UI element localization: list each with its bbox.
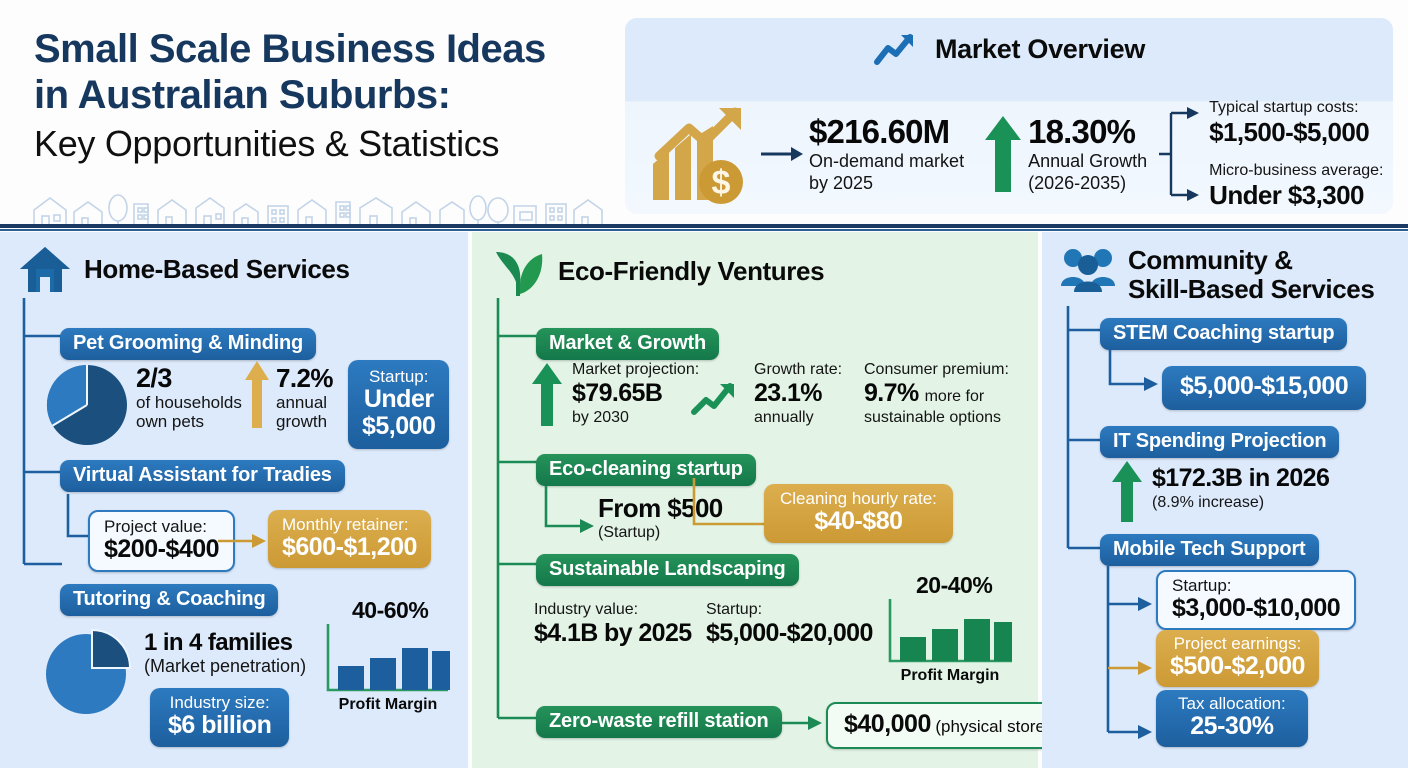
node-pet-grooming[interactable]: Pet Grooming & Minding: [60, 328, 316, 360]
mobile-startup-value: $3,000-$10,000: [1172, 595, 1340, 622]
tutoring-families-note: (Market penetration): [144, 657, 306, 676]
zero-waste-note: (physical store): [935, 717, 1050, 736]
project-value-amount: $200-$400: [104, 536, 219, 563]
header-title-block: Small Scale Business Ideas in Australian…: [34, 26, 634, 166]
tutoring-families-value: 1 in 4 families: [144, 628, 306, 657]
mobile-tax-label: Tax allocation:: [1178, 694, 1286, 713]
elbow-connector-eco-cleaning: [544, 486, 600, 542]
chart-profit-margin-landscaping: 20-40% Profit Margin: [884, 572, 1024, 685]
bar-chart-tutoring: [322, 624, 454, 696]
pie-chart-market-penetration: [40, 622, 140, 718]
column-home-based-services: Home-Based Services Pet Grooming & Mindi…: [0, 232, 468, 768]
suburb-skyline-decoration: [30, 190, 610, 226]
cleaning-rate-value: $40-$80: [780, 508, 937, 535]
node-tutoring[interactable]: Tutoring & Coaching: [60, 584, 278, 616]
bracket-split-icon: [1159, 101, 1203, 207]
bar-chart-landscaping: [884, 599, 1016, 667]
node-it-spending[interactable]: IT Spending Projection: [1100, 426, 1339, 458]
eco-growth-value: 23.1%: [754, 379, 842, 408]
node-virtual-assistant[interactable]: Virtual Assistant for Tradies: [60, 460, 345, 492]
growth-value: 18.30%: [1028, 114, 1147, 150]
startup-costs-label: Typical startup costs:: [1209, 98, 1383, 117]
infographic-root: Small Scale Business Ideas in Australian…: [0, 0, 1408, 768]
box-project-value[interactable]: Project value: $200-$400: [88, 510, 235, 572]
node-mobile-tech-support[interactable]: Mobile Tech Support: [1100, 534, 1319, 566]
landscaping-startup-amount: $5,000-$20,000: [706, 619, 873, 648]
box-monthly-retainer[interactable]: Monthly retainer: $600-$1,200: [268, 510, 431, 568]
monthly-retainer-amount: $600-$1,200: [282, 534, 417, 561]
node-stem-coaching[interactable]: STEM Coaching startup: [1100, 318, 1347, 350]
eco-premium-suffix: more for: [925, 387, 985, 406]
mobile-tax-value: 25-30%: [1178, 713, 1286, 740]
pet-pie-line1: of households: [136, 393, 242, 412]
landscaping-profit-caption: Profit Margin: [884, 667, 1016, 685]
startup-costs-value: $1,500-$5,000: [1209, 117, 1383, 147]
arrow-up-green-it-icon: [1110, 460, 1144, 524]
column-community-skill-based: Community & Skill-Based Services STEM Co…: [1042, 232, 1408, 768]
pet-pie-annotation: 2/3 of households own pets: [136, 364, 242, 431]
box-zero-waste-cost[interactable]: $40,000 (physical store): [826, 702, 1069, 749]
market-overview-branches: Typical startup costs: $1,500-$5,000 Mic…: [1209, 98, 1383, 210]
pet-growth-line1: annual: [276, 393, 333, 412]
it-spending-note: (8.9% increase): [1152, 493, 1329, 512]
market-overview-stat-ondemand: $216.60M On-demand market by 2025: [809, 114, 964, 194]
tutoring-pie-annotation: 1 in 4 families (Market penetration): [144, 628, 306, 676]
bar-chart-growth-dollar-icon: $: [649, 104, 759, 204]
market-overview-stat-growth: 18.30% Annual Growth (2026-2035): [1028, 114, 1147, 194]
mobile-earnings-label: Project earnings:: [1170, 634, 1305, 653]
node-market-growth[interactable]: Market & Growth: [536, 328, 719, 360]
column-header-community: Community & Skill-Based Services: [1042, 232, 1408, 304]
zero-waste-amount: $40,000: [844, 710, 931, 738]
landscaping-industry-amount: $4.1B by 2025: [534, 619, 692, 648]
mobile-earnings-value: $500-$2,000: [1170, 653, 1305, 680]
pet-pie-fraction: 2/3: [136, 364, 242, 393]
page-title-line2: in Australian Suburbs:: [34, 72, 634, 118]
micro-business-value: Under $3,300: [1209, 180, 1383, 210]
node-label-zero-waste[interactable]: Zero-waste refill station: [536, 706, 782, 738]
box-mobile-startup[interactable]: Startup: $3,000-$10,000: [1156, 570, 1356, 630]
industry-size-value: $6 billion: [168, 712, 271, 739]
column-eco-friendly-ventures: Eco-Friendly Ventures Market & Growth Ma…: [472, 232, 1038, 768]
arrow-up-gold-icon: [244, 360, 270, 430]
leaf-icon: [490, 244, 546, 298]
tutoring-profit-caption: Profit Margin: [322, 696, 454, 714]
arrow-right-green-icon: [782, 713, 824, 733]
ondemand-label-line2: by 2025: [809, 172, 964, 194]
badge-pet-startup[interactable]: Startup: Under $5,000: [348, 360, 449, 449]
landscaping-industry-label: Industry value:: [534, 600, 692, 619]
node-zero-waste[interactable]: Zero-waste refill station: [536, 706, 782, 738]
landscaping-industry-value: Industry value: $4.1B by 2025: [534, 600, 692, 648]
pet-startup-value-l2: $5,000: [362, 413, 435, 440]
box-mobile-tax-allocation[interactable]: Tax allocation: 25-30%: [1156, 690, 1308, 747]
node-sustainable-landscaping[interactable]: Sustainable Landscaping: [536, 554, 799, 586]
monthly-retainer-label: Monthly retainer:: [282, 515, 417, 534]
growth-label-line2: (2026-2035): [1028, 172, 1147, 194]
column-title-home-based: Home-Based Services: [84, 255, 350, 284]
eco-market-projection: Market projection: $79.65B by 2030: [572, 360, 699, 427]
landscaping-startup-label: Startup:: [706, 600, 873, 619]
node-label-sustainable-landscaping[interactable]: Sustainable Landscaping: [536, 554, 799, 586]
node-label-it-spending[interactable]: IT Spending Projection: [1100, 426, 1339, 458]
stem-startup-range: $5,000-$15,000: [1180, 372, 1348, 400]
column-title-community-line1: Community &: [1128, 246, 1374, 275]
elbow-connector-stem: [1108, 350, 1168, 398]
header-divider-secondary: [0, 229, 1408, 231]
eco-premium-note: sustainable options: [864, 408, 1009, 427]
arrow-right-icon: [761, 144, 805, 164]
column-header-home-based: Home-Based Services: [0, 232, 468, 294]
mobile-startup-label: Startup:: [1172, 576, 1340, 595]
node-label-virtual-assistant[interactable]: Virtual Assistant for Tradies: [60, 460, 345, 492]
pet-startup-value-l1: Under: [362, 386, 435, 413]
column-title-community-line2: Skill-Based Services: [1128, 275, 1374, 304]
market-overview-header: Market Overview: [625, 32, 1393, 66]
eco-growth-note: annually: [754, 408, 842, 427]
badge-stem-startup-range[interactable]: $5,000-$15,000: [1162, 366, 1366, 410]
tutoring-profit-pct: 40-60%: [352, 597, 462, 624]
industry-size-label: Industry size:: [168, 693, 271, 712]
node-label-market-growth[interactable]: Market & Growth: [536, 328, 719, 360]
ondemand-label-line1: On-demand market: [809, 150, 964, 172]
box-mobile-project-earnings[interactable]: Project earnings: $500-$2,000: [1156, 630, 1319, 687]
trending-up-icon: [873, 32, 921, 66]
cleaning-rate-label: Cleaning hourly rate:: [780, 489, 937, 508]
column-title-eco: Eco-Friendly Ventures: [558, 257, 824, 286]
node-label-mobile-tech-support[interactable]: Mobile Tech Support: [1100, 534, 1319, 566]
ondemand-value: $216.60M: [809, 114, 964, 150]
pet-startup-label: Startup:: [362, 367, 435, 386]
pet-pie-line2: own pets: [136, 412, 242, 431]
market-overview-title: Market Overview: [935, 34, 1145, 65]
page-title-line1: Small Scale Business Ideas: [34, 26, 634, 72]
pet-growth-line2: growth: [276, 412, 333, 431]
trending-up-green-icon: [690, 380, 742, 418]
badge-industry-size[interactable]: Industry size: $6 billion: [150, 688, 289, 747]
eco-growth-label: Growth rate:: [754, 360, 842, 379]
it-spending-stat: $172.3B in 2026 (8.9% increase): [1152, 464, 1329, 512]
growth-label-line1: Annual Growth: [1028, 150, 1147, 172]
eco-projection-value: $79.65B: [572, 379, 699, 408]
eco-premium-label: Consumer premium:: [864, 360, 1009, 379]
eco-projection-note: by 2030: [572, 408, 699, 427]
people-group-icon: [1060, 246, 1116, 294]
eco-projection-label: Market projection:: [572, 360, 699, 379]
micro-business-label: Micro-business average:: [1209, 161, 1383, 180]
svg-text:$: $: [712, 164, 731, 202]
pie-chart-pet-ownership: [42, 360, 132, 450]
pet-growth-stat: 7.2% annual growth: [276, 364, 333, 431]
node-label-stem-coaching[interactable]: STEM Coaching startup: [1100, 318, 1347, 350]
market-overview-panel: Market Overview $ $216.60M On-de: [625, 18, 1393, 214]
box-cleaning-hourly-rate[interactable]: Cleaning hourly rate: $40-$80: [764, 484, 953, 543]
arrow-right-gold-icon: [218, 532, 268, 550]
chart-profit-margin-tutoring: 40-60% Profit Margin: [322, 597, 462, 714]
house-icon: [18, 244, 72, 294]
arrow-up-green-small-icon: [530, 362, 564, 428]
project-value-label: Project value:: [104, 517, 219, 536]
page-subtitle: Key Opportunities & Statistics: [34, 122, 634, 166]
market-overview-body: $ $216.60M On-demand market by 2025 18.3…: [625, 94, 1393, 214]
eco-growth-rate: Growth rate: 23.1% annually: [754, 360, 842, 427]
eco-consumer-premium: Consumer premium: 9.7% more for sustaina…: [864, 360, 1009, 427]
eco-premium-value: 9.7%: [864, 379, 919, 408]
landscaping-profit-pct: 20-40%: [916, 572, 1024, 599]
node-label-tutoring[interactable]: Tutoring & Coaching: [60, 584, 278, 616]
it-spending-value: $172.3B in 2026: [1152, 464, 1329, 493]
node-label-pet-grooming[interactable]: Pet Grooming & Minding: [60, 328, 316, 360]
header-divider: [0, 224, 1408, 228]
landscaping-startup: Startup: $5,000-$20,000: [706, 600, 873, 648]
pet-growth-value: 7.2%: [276, 364, 333, 393]
arrow-up-green-icon: [984, 114, 1022, 194]
column-header-eco: Eco-Friendly Ventures: [472, 232, 1038, 298]
